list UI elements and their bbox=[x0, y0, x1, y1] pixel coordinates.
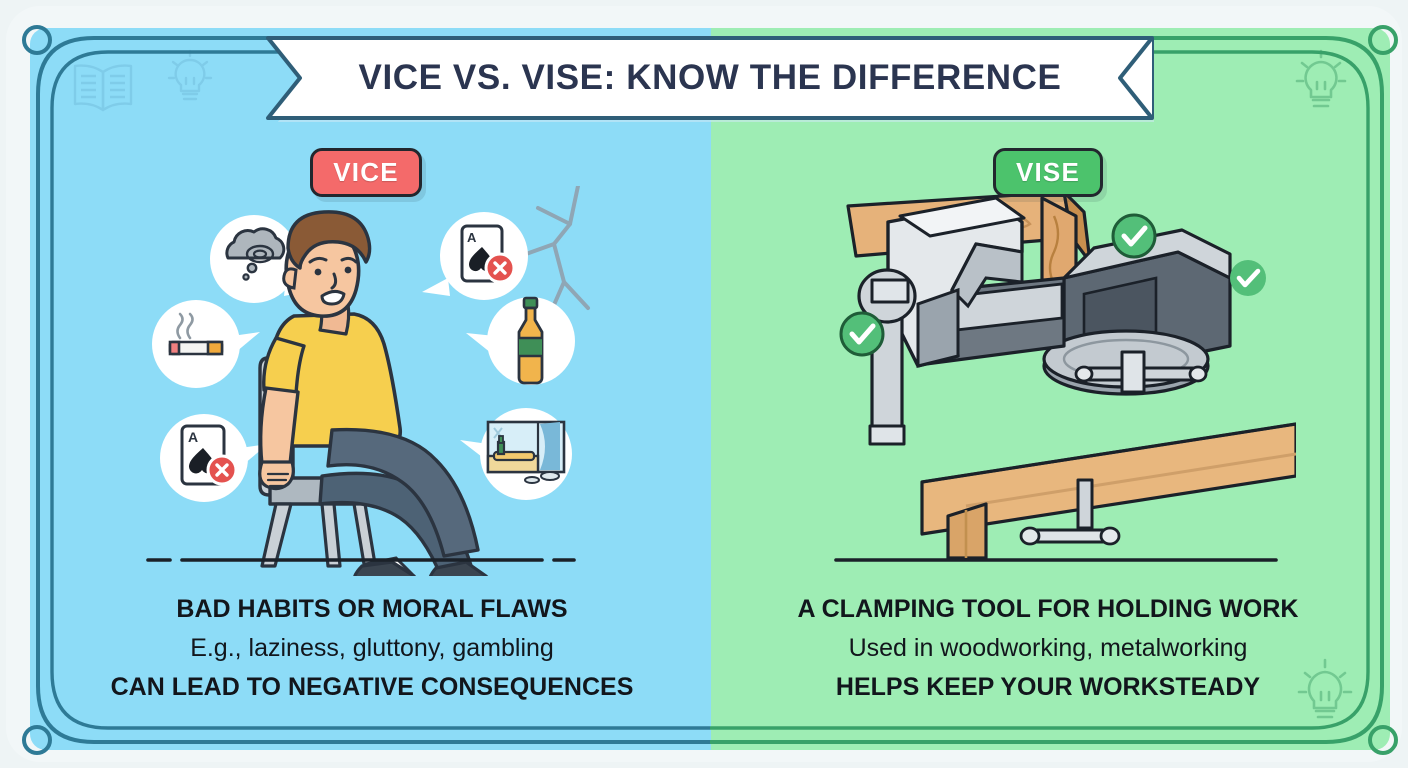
caption-vice-line1: BAD HABITS OR MORAL FLAWS bbox=[52, 590, 692, 628]
check-badge-right bbox=[1230, 260, 1266, 296]
badge-vise[interactable]: VISE bbox=[993, 148, 1103, 197]
vise-illustration bbox=[826, 186, 1296, 576]
bubble-card-blocked-left: A A bbox=[160, 414, 268, 502]
badge-vice[interactable]: VICE bbox=[310, 148, 422, 197]
check-badge-left bbox=[841, 313, 883, 355]
bubble-cigarette bbox=[152, 300, 260, 388]
infographic-root: A A A bbox=[0, 0, 1408, 768]
caption-vise-line1: A CLAMPING TOOL FOR HOLDING WORK bbox=[728, 590, 1368, 628]
caption-vise-line2: Used in woodworking, metalworking bbox=[728, 628, 1368, 668]
page-title: VICE VS. VISE: KNOW THE DIFFERENCE bbox=[264, 34, 1156, 122]
bubble-card-blocked-right: A bbox=[422, 212, 528, 300]
card-plate: A A A bbox=[6, 6, 1402, 762]
caption-vice-line2: E.g., laziness, gluttony, gambling bbox=[52, 628, 692, 668]
check-badge-top bbox=[1113, 215, 1155, 257]
caption-vise: A CLAMPING TOOL FOR HOLDING WORK Used in… bbox=[728, 590, 1368, 706]
vice-illustration: A A A bbox=[126, 186, 596, 576]
bubble-messy-room bbox=[460, 408, 572, 500]
svg-text:A: A bbox=[188, 429, 198, 445]
caption-vice-line3: CAN LEAD TO NEGATIVE CONSEQUENCES bbox=[52, 668, 692, 706]
svg-text:A: A bbox=[467, 230, 477, 245]
bubble-beer-bottle bbox=[466, 297, 575, 385]
caption-vise-line3: HELPS KEEP YOUR WORKSTEADY bbox=[728, 668, 1368, 706]
caption-vice: BAD HABITS OR MORAL FLAWS E.g., laziness… bbox=[52, 590, 692, 706]
